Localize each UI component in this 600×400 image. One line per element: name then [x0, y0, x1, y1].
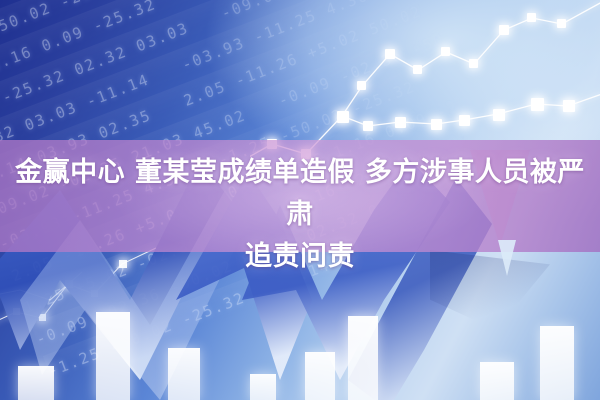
headline-line-2: 追责问责	[12, 236, 588, 278]
bar-silhouette	[348, 316, 378, 400]
news-banner: -09.02 -02.35 21.03 45.021.25 +5.02 -02.…	[0, 0, 600, 400]
bar-silhouette	[96, 312, 130, 400]
bar-silhouette	[540, 326, 574, 400]
headline-line-1: 金赢中心 董某莹成绩单造假 多方涉事人员被严肃	[15, 157, 585, 230]
bar-silhouette	[480, 362, 514, 400]
page-title: 金赢中心 董某莹成绩单造假 多方涉事人员被严肃 追责问责	[0, 152, 600, 278]
bar-silhouette	[168, 348, 200, 400]
bar-silhouette	[250, 374, 276, 400]
bar-silhouette	[305, 352, 335, 400]
bar-silhouette	[18, 366, 54, 400]
